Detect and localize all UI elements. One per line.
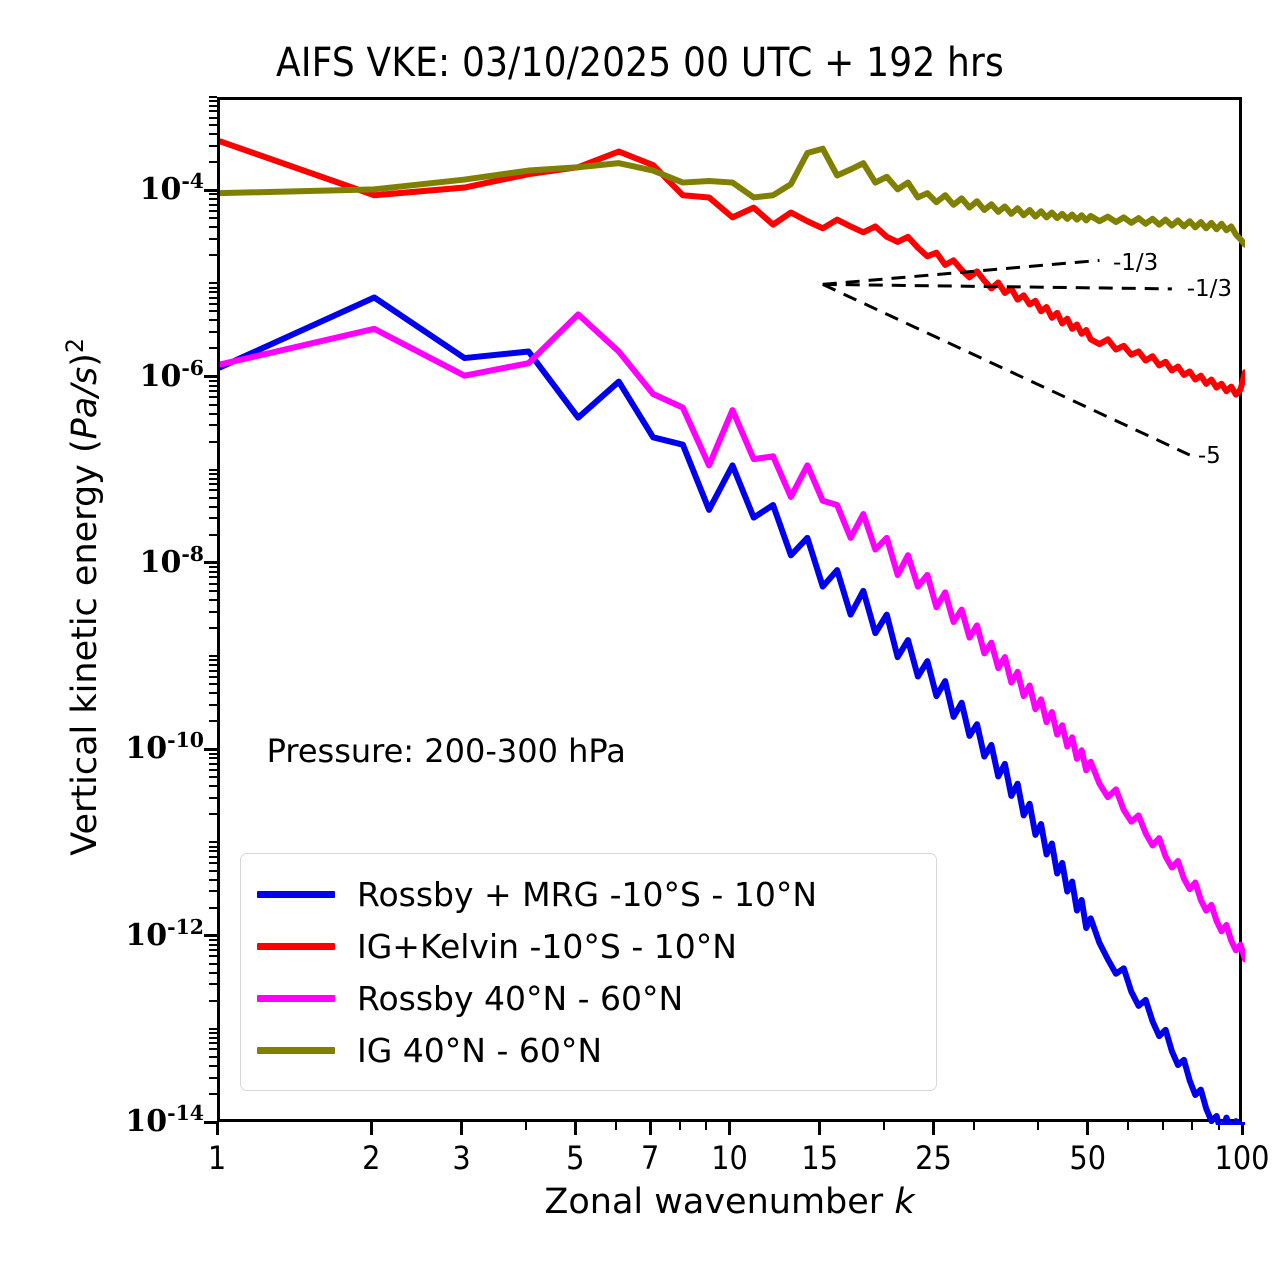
y-tick-minor xyxy=(209,841,217,843)
y-tick-minor xyxy=(209,720,217,722)
y-tick-label: 10-14 xyxy=(125,1101,204,1139)
slope-label-upper-third: -1/3 xyxy=(1113,250,1158,276)
x-axis-label: Zonal wavenumber k xyxy=(217,1182,1242,1222)
y-tick-minor xyxy=(209,413,217,415)
y-tick-minor xyxy=(209,287,217,289)
y-tick-minor xyxy=(209,193,217,195)
y-tick-minor xyxy=(209,424,217,426)
y-tick-minor xyxy=(209,145,217,147)
y-tick-minor xyxy=(209,862,217,864)
legend-item-label: IG+Kelvin -10°S - 10°N xyxy=(357,930,737,963)
y-tick-minor xyxy=(209,96,217,98)
y-tick-minor xyxy=(209,310,217,312)
y-tick-minor xyxy=(209,497,217,499)
y-tick-minor xyxy=(209,627,217,629)
y-tick-minor xyxy=(209,769,217,771)
y-tick-minor xyxy=(209,217,217,219)
y-tick-minor xyxy=(209,944,217,946)
y-tick-minor xyxy=(209,659,217,661)
y-tick-minor xyxy=(209,303,217,305)
y-tick-minor xyxy=(209,1093,217,1095)
y-tick-minor xyxy=(209,879,217,881)
y-tick-minor xyxy=(209,763,217,765)
chart-figure: AIFS VKE: 03/10/2025 00 UTC + 192 hrs Ve… xyxy=(0,0,1280,1288)
y-tick-minor xyxy=(209,390,217,392)
y-tick-minor xyxy=(209,254,217,256)
y-tick-minor xyxy=(209,963,217,965)
y-tick-label: 10-8 xyxy=(140,542,204,580)
y-tick-minor xyxy=(209,590,217,592)
y-tick-minor xyxy=(209,583,217,585)
y-tick-minor xyxy=(209,441,217,443)
legend-item[interactable]: Rossby + MRG -10°S - 10°N xyxy=(257,868,918,920)
y-axis-label-prefix: Vertical kinetic energy ( xyxy=(65,439,105,855)
y-tick-minor xyxy=(209,291,217,293)
y-tick-minor xyxy=(209,813,217,815)
x-axis-label-italic: k xyxy=(894,1182,914,1222)
y-tick-minor xyxy=(209,1028,217,1030)
legend-item[interactable]: IG 40°N - 60°N xyxy=(257,1024,918,1076)
y-tick-minor xyxy=(209,890,217,892)
legend-item[interactable]: Rossby 40°N - 60°N xyxy=(257,972,918,1024)
y-tick-major xyxy=(204,561,217,564)
x-tick-label: 25 xyxy=(888,1139,978,1177)
y-tick-minor xyxy=(209,297,217,299)
y-tick-minor xyxy=(209,1032,217,1034)
y-tick-minor xyxy=(209,670,217,672)
y-tick-minor xyxy=(209,489,217,491)
y-tick-minor xyxy=(209,753,217,755)
y-tick-minor xyxy=(209,534,217,536)
y-tick-minor xyxy=(209,776,217,778)
legend-item-label: Rossby + MRG -10°S - 10°N xyxy=(357,878,817,911)
y-tick-minor xyxy=(209,1065,217,1067)
y-tick-minor xyxy=(209,100,217,102)
y-tick-minor xyxy=(209,907,217,909)
legend-item[interactable]: IG+Kelvin -10°S - 10°N xyxy=(257,920,918,972)
y-axis-label-suffix: ) xyxy=(65,353,105,367)
y-tick-minor xyxy=(209,692,217,694)
legend-item-label: IG 40°N - 60°N xyxy=(357,1034,602,1067)
y-tick-minor xyxy=(209,983,217,985)
y-tick-minor xyxy=(209,797,217,799)
y-tick-minor xyxy=(209,1077,217,1079)
y-tick-minor xyxy=(209,226,217,228)
y-tick-minor xyxy=(209,856,217,858)
y-tick-minor xyxy=(209,571,217,573)
legend-color-swatch xyxy=(257,891,335,898)
y-tick-major xyxy=(204,1121,217,1124)
legend-color-swatch xyxy=(257,943,335,950)
y-tick-minor xyxy=(209,469,217,471)
reference-slope-line xyxy=(823,260,1100,284)
y-tick-minor xyxy=(209,331,217,333)
x-axis-label-prefix: Zonal wavenumber xyxy=(544,1182,894,1222)
x-tick-label: 3 xyxy=(417,1139,507,1177)
y-tick-label: 10-6 xyxy=(140,356,204,394)
y-tick-minor xyxy=(209,483,217,485)
legend-color-swatch xyxy=(257,1047,335,1054)
y-tick-label: 10-12 xyxy=(125,915,204,953)
y-axis-label-italic: Pa/s xyxy=(65,367,105,440)
y-tick-minor xyxy=(209,1042,217,1044)
x-tick-label: 7 xyxy=(605,1139,695,1177)
y-tick-minor xyxy=(209,117,217,119)
y-tick-minor xyxy=(209,846,217,848)
x-tick-major xyxy=(216,1122,219,1135)
y-axis-label-exponent: 2 xyxy=(61,338,89,353)
x-tick-label: 10 xyxy=(685,1139,775,1177)
x-tick-label: 1 xyxy=(172,1139,262,1177)
y-tick-minor xyxy=(209,396,217,398)
y-tick-minor xyxy=(209,655,217,657)
y-tick-minor xyxy=(209,870,217,872)
x-tick-label: 100 xyxy=(1197,1139,1280,1177)
y-tick-minor xyxy=(209,198,217,200)
series-line xyxy=(220,141,1245,394)
y-tick-minor xyxy=(209,576,217,578)
y-tick-minor xyxy=(209,1048,217,1050)
y-tick-minor xyxy=(209,785,217,787)
y-tick-minor xyxy=(209,110,217,112)
y-tick-minor xyxy=(209,664,217,666)
y-tick-minor xyxy=(209,133,217,135)
chart-title: AIFS VKE: 03/10/2025 00 UTC + 192 hrs xyxy=(0,40,1280,86)
y-tick-minor xyxy=(209,972,217,974)
y-tick-minor xyxy=(209,385,217,387)
y-tick-minor xyxy=(209,105,217,107)
y-tick-major xyxy=(204,189,217,192)
y-tick-minor xyxy=(209,1056,217,1058)
y-tick-minor xyxy=(209,949,217,951)
pressure-annotation: Pressure: 200-300 hPa xyxy=(267,732,626,770)
slope-label-minus-five: -5 xyxy=(1198,443,1221,469)
y-tick-minor xyxy=(209,939,217,941)
legend-color-swatch xyxy=(257,995,335,1002)
y-tick-minor xyxy=(209,683,217,685)
x-tick-label: 15 xyxy=(775,1139,865,1177)
y-tick-minor xyxy=(209,380,217,382)
y-tick-minor xyxy=(209,124,217,126)
y-axis-label: Vertical kinetic energy (Pa/s)2 xyxy=(61,217,105,977)
y-tick-minor xyxy=(209,238,217,240)
y-tick-minor xyxy=(209,955,217,957)
slope-label-lower-third: -1/3 xyxy=(1187,276,1232,302)
y-tick-minor xyxy=(209,1037,217,1039)
y-tick-minor xyxy=(209,404,217,406)
y-tick-minor xyxy=(209,676,217,678)
y-tick-minor xyxy=(209,1000,217,1002)
legend-item-label: Rossby 40°N - 60°N xyxy=(357,982,683,1015)
y-tick-minor xyxy=(209,566,217,568)
y-tick-minor xyxy=(209,161,217,163)
y-tick-minor xyxy=(209,282,217,284)
x-tick-label: 50 xyxy=(1043,1139,1133,1177)
y-tick-minor xyxy=(209,473,217,475)
y-tick-label: 10-4 xyxy=(140,169,204,207)
chart-legend[interactable]: Rossby + MRG -10°S - 10°NIG+Kelvin -10°S… xyxy=(240,853,937,1091)
x-tick-label: 5 xyxy=(530,1139,620,1177)
y-tick-minor xyxy=(209,204,217,206)
x-tick-label: 2 xyxy=(326,1139,416,1177)
y-tick-minor xyxy=(209,319,217,321)
y-tick-major xyxy=(204,748,217,751)
y-tick-minor xyxy=(209,478,217,480)
y-tick-minor xyxy=(209,599,217,601)
y-tick-minor xyxy=(209,517,217,519)
y-tick-label: 10-10 xyxy=(125,728,204,766)
y-tick-minor xyxy=(209,210,217,212)
reference-slope-line xyxy=(823,284,1190,455)
y-tick-minor xyxy=(209,850,217,852)
y-tick-major xyxy=(204,375,217,378)
y-tick-minor xyxy=(209,347,217,349)
y-tick-minor xyxy=(209,506,217,508)
y-tick-major xyxy=(204,934,217,937)
y-tick-minor xyxy=(209,704,217,706)
y-tick-minor xyxy=(209,611,217,613)
y-tick-minor xyxy=(209,757,217,759)
